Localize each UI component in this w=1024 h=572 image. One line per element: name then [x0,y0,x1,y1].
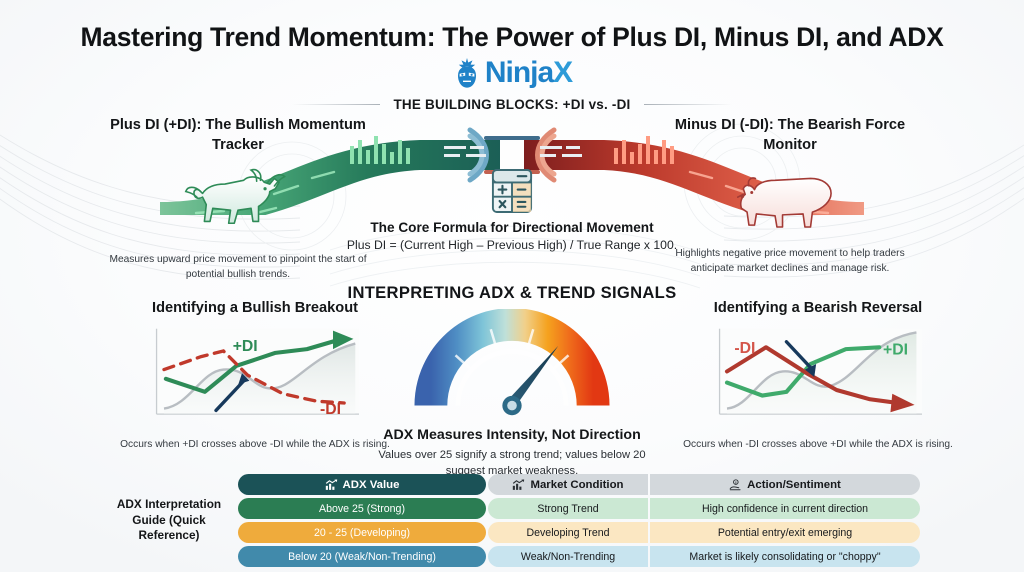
brand-name-main: Ninja [485,56,553,89]
adx-interpretation-table: ADX Interpretation Guide (Quick Referenc… [110,474,920,567]
panel-bullish-caption: Occurs when +DI crosses above -DI while … [105,438,405,453]
table-header-market-condition: Market Condition [488,474,648,495]
formula-equation: Plus DI = (Current High – Previous High)… [307,238,717,252]
rule-line-right [644,104,732,105]
cell-adx-value: Below 20 (Weak/Non-Trending) [238,546,486,567]
cell-market-condition: Weak/Non-Trending [488,546,648,567]
brand-name-accent: X [553,56,572,89]
gauge-icon [362,309,662,421]
table-row: Above 25 (Strong) Strong Trend High conf… [238,498,920,519]
calculator-icon [307,168,717,214]
bullish-breakout-chart: +DI -DI [105,325,405,429]
cell-adx-value: Above 25 (Strong) [238,498,486,519]
svg-text:+DI: +DI [233,338,258,355]
table-header-adx-value-label: ADX Value [343,479,400,491]
panel-bearish-reversal: Identifying a Bearish Reversal [668,300,968,453]
pillar-plus-di-description: Measures upward price movement to pinpoi… [108,253,368,283]
cell-action-sentiment: Potential entry/exit emerging [650,522,920,543]
table-header-action-sentiment: $ Action/Sentiment [650,474,920,495]
cell-action-sentiment: High confidence in current direction [650,498,920,519]
svg-text:+DI: +DI [883,342,908,359]
formula-title: The Core Formula for Directional Movemen… [307,220,717,235]
cell-adx-value: 20 - 25 (Developing) [238,522,486,543]
gauge-title: ADX Measures Intensity, Not Direction [362,427,662,443]
bearish-reversal-chart: -DI +DI [668,325,968,429]
bar-chart-up-icon [512,479,525,491]
brand-logo: NinjaX [0,57,1024,89]
panel-bullish-breakout: Identifying a Bullish Breakout [105,300,405,453]
hand-coin-icon: $ [729,479,742,491]
table-row: 20 - 25 (Developing) Developing Trend Po… [238,522,920,543]
table-header-action-sentiment-label: Action/Sentiment [747,479,841,491]
panel-bearish-title: Identifying a Bearish Reversal [668,300,968,316]
svg-text:-DI: -DI [320,401,341,418]
infographic-canvas: Mastering Trend Momentum: The Power of P… [0,0,1024,572]
table-header-adx-value: ADX Value [238,474,486,495]
panel-adx-gauge: ADX Measures Intensity, Not Direction Va… [362,300,662,480]
core-formula-block: The Core Formula for Directional Movemen… [307,168,717,252]
page-title: Mastering Trend Momentum: The Power of P… [0,22,1024,53]
panel-bearish-caption: Occurs when -DI crosses above +DI while … [668,438,968,453]
table-header-market-condition-label: Market Condition [530,479,623,491]
table-row: Below 20 (Weak/Non-Trending) Weak/Non-Tr… [238,546,920,567]
cell-market-condition: Strong Trend [488,498,648,519]
rule-line-left [292,104,380,105]
brand-name: NinjaX [485,58,572,88]
table-side-label: ADX Interpretation Guide (Quick Referenc… [110,497,228,544]
panel-bullish-title: Identifying a Bullish Breakout [105,300,405,316]
svg-text:-DI: -DI [734,340,755,357]
cell-action-sentiment: Market is likely consolidating or "chopp… [650,546,920,567]
cell-market-condition: Developing Trend [488,522,648,543]
pillar-plus-di-title: Plus DI (+DI): The Bullish Momentum Trac… [108,116,368,155]
pillar-minus-di-title: Minus DI (-DI): The Bearish Force Monito… [660,116,920,155]
ninja-mask-icon [452,57,482,89]
table-header-row: ADX Value Market Condition $ [238,474,920,495]
bar-chart-up-icon [325,479,338,491]
